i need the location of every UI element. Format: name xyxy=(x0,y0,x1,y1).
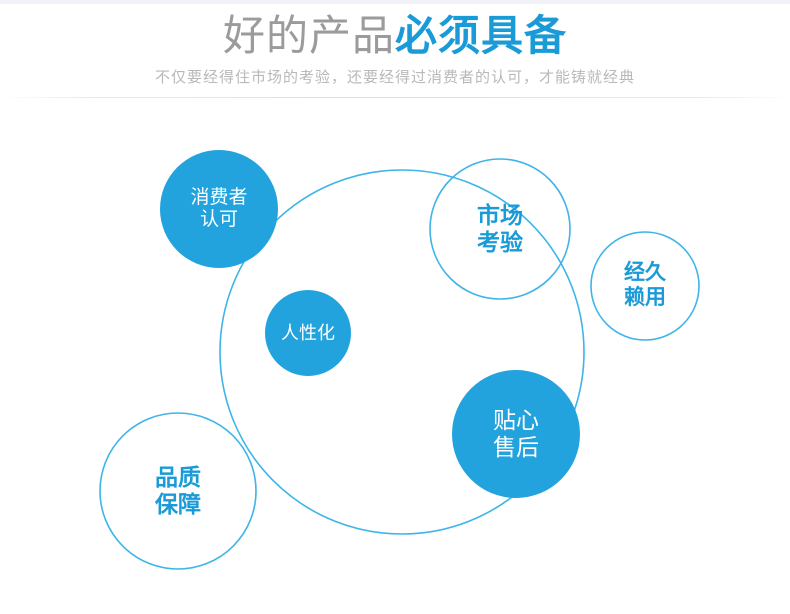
bubble-durable-use[interactable] xyxy=(591,232,699,340)
bubble-after-sales[interactable] xyxy=(452,370,580,498)
bubble-diagram-canvas xyxy=(0,94,790,614)
promo-banner: 好的产品必须具备 不仅要经得住市场的考验，还要经得过消费者的认可，才能铸就经典 … xyxy=(0,0,790,614)
bubble-quality-assurance[interactable] xyxy=(100,413,256,569)
bubble-market-test[interactable] xyxy=(430,159,570,299)
bubble-diagram: 消费者 认可市场 考验经久 赖用人性化贴心 售后品质 保障 xyxy=(0,94,790,614)
page-title: 好的产品必须具备 xyxy=(0,10,790,62)
bubble-consumer-approval[interactable] xyxy=(160,150,278,268)
banner-header: 好的产品必须具备 不仅要经得住市场的考验，还要经得过消费者的认可，才能铸就经典 xyxy=(0,4,790,94)
page-subtitle: 不仅要经得住市场的考验，还要经得过消费者的认可，才能铸就经典 xyxy=(0,66,790,87)
page-title-blue: 必须具备 xyxy=(395,12,567,59)
page-title-grey: 好的产品 xyxy=(223,12,395,59)
bubble-humanized[interactable] xyxy=(265,290,351,376)
